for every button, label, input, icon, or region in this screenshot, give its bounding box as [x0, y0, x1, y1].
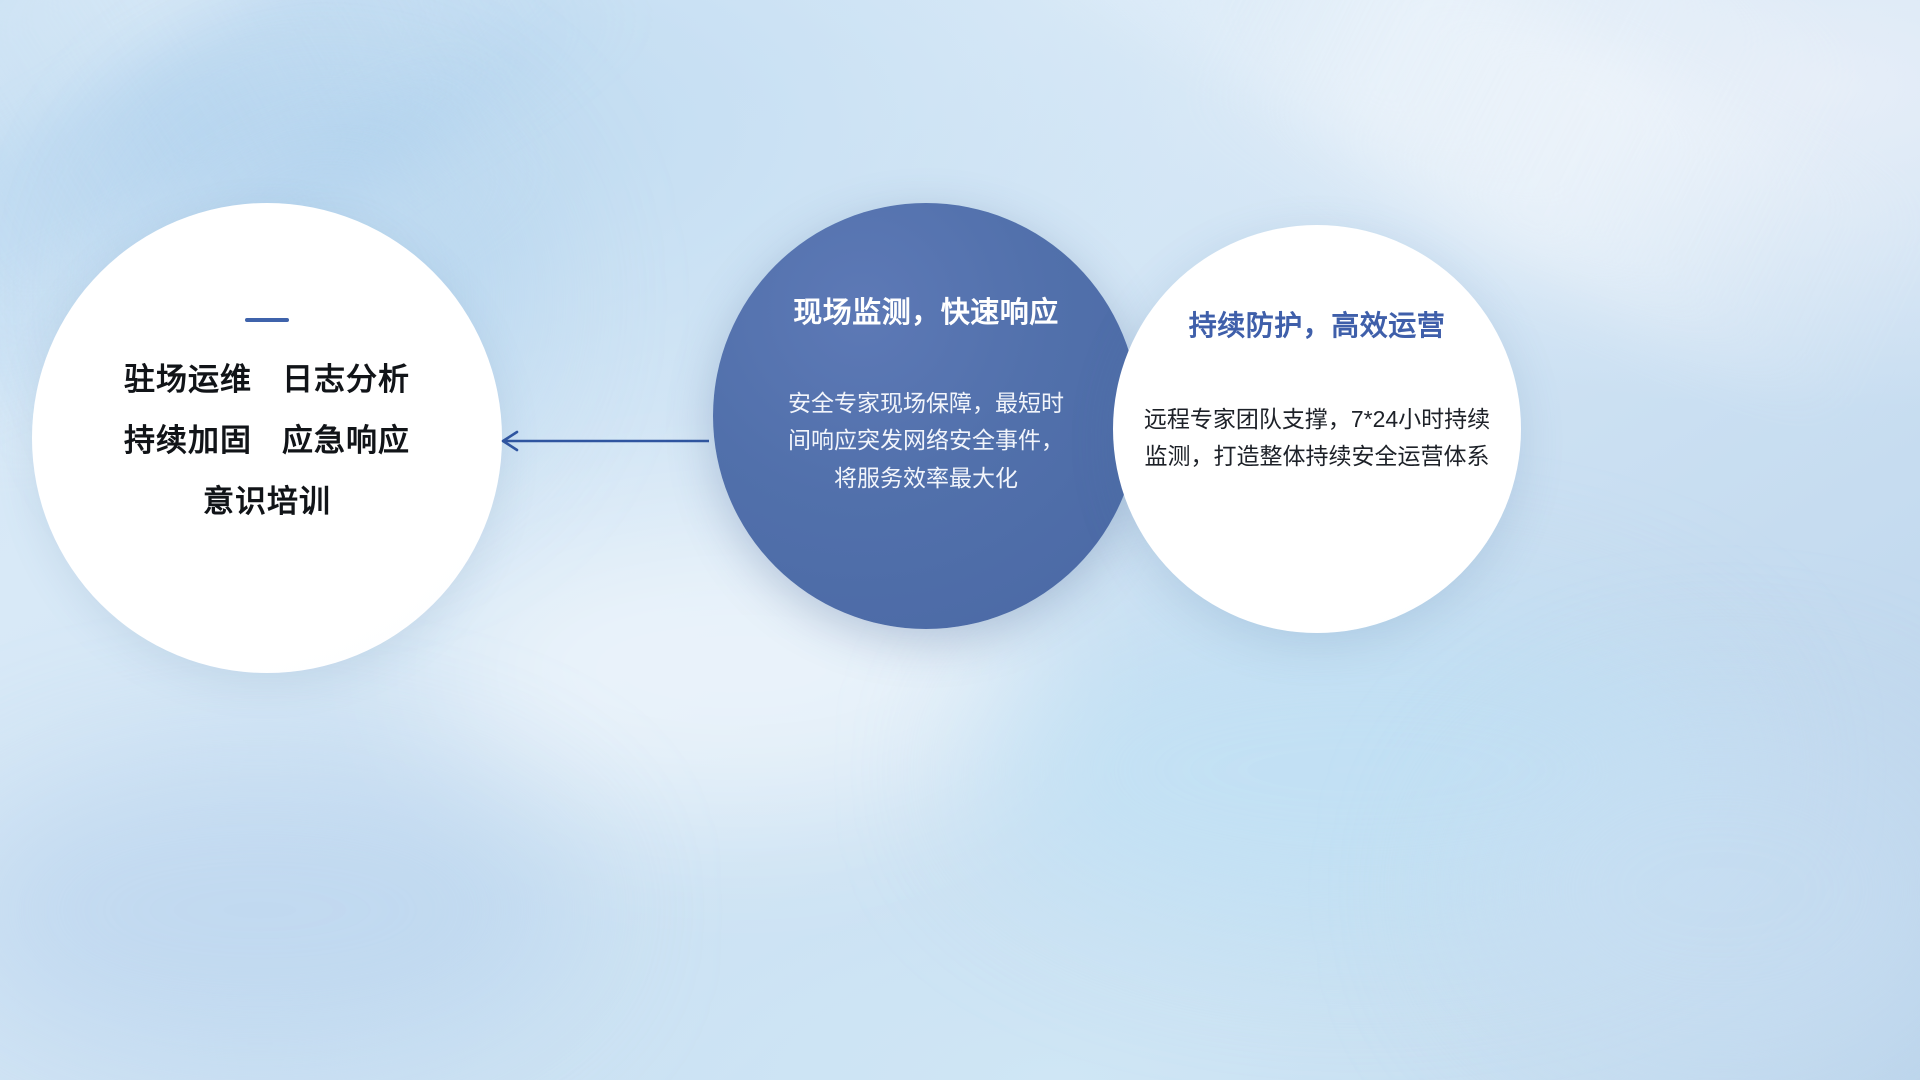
keyword-item: 驻场运维	[124, 364, 252, 395]
diagram-stage: 驻场运维 日志分析 持续加固 应急响应 意识培训 现场监测，快速响应 安全专家现…	[0, 0, 1920, 1080]
right-circle-content: 持续防护，高效运营 远程专家团队支撑，7*24小时持续监测，打造整体持续安全运营…	[1113, 225, 1521, 633]
keyword-row: 持续加固 应急响应	[124, 425, 410, 456]
keyword-row: 驻场运维 日志分析	[124, 364, 410, 395]
keyword-item: 持续加固	[124, 425, 252, 456]
middle-onsite-circle: 现场监测，快速响应 安全专家现场保障，最短时间响应突发网络安全事件，将服务效率最…	[713, 203, 1139, 629]
middle-circle-body: 安全专家现场保障，最短时间响应突发网络安全事件，将服务效率最大化	[783, 385, 1069, 497]
right-circle-title: 持续防护，高效运营	[1189, 304, 1446, 344]
keyword-row: 意识培训	[203, 486, 331, 517]
keyword-item: 应急响应	[282, 425, 410, 456]
left-keywords-circle: 驻场运维 日志分析 持续加固 应急响应 意识培训	[32, 203, 502, 673]
keyword-item: 日志分析	[282, 364, 410, 395]
flow-arrow-left-icon	[495, 430, 710, 452]
keyword-item: 意识培训	[203, 486, 331, 517]
middle-circle-title: 现场监测，快速响应	[793, 289, 1059, 331]
accent-dash-divider	[245, 318, 289, 322]
right-circle-body: 远程专家团队支撑，7*24小时持续监测，打造整体持续安全运营体系	[1133, 401, 1501, 476]
right-continuous-circle: 持续防护，高效运营 远程专家团队支撑，7*24小时持续监测，打造整体持续安全运营…	[1113, 225, 1521, 633]
middle-circle-content: 现场监测，快速响应 安全专家现场保障，最短时间响应突发网络安全事件，将服务效率最…	[713, 203, 1139, 629]
